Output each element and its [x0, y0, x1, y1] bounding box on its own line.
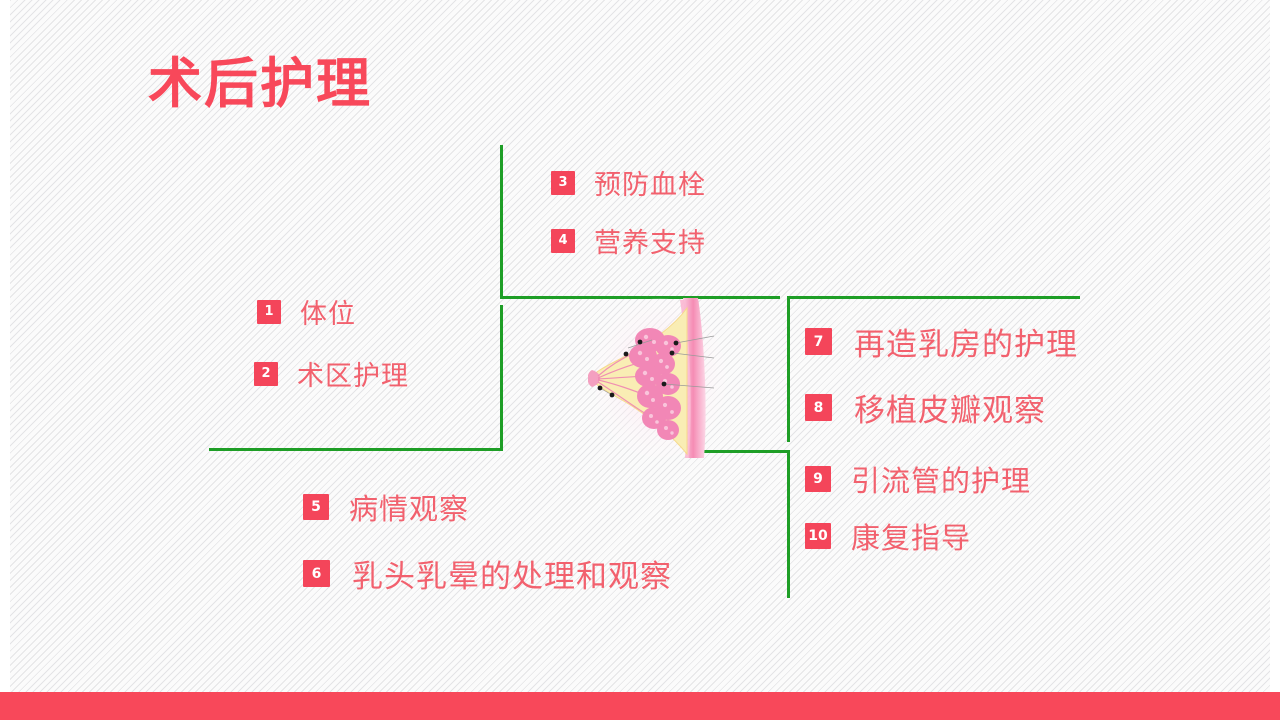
list-item-5[interactable]: 5 病情观察	[303, 486, 469, 528]
item-number-badge: 4	[551, 229, 575, 253]
list-item-7[interactable]: 7 再造乳房的护理	[805, 319, 1078, 364]
connector-line-right-horizontal	[787, 296, 1080, 299]
item-number-badge: 7	[805, 328, 832, 355]
list-item-6[interactable]: 6 乳头乳晕的处理和观察	[303, 551, 672, 596]
bottom-accent-bar	[0, 692, 1280, 720]
item-label: 康复指导	[851, 515, 971, 557]
connector-line-left-horizontal	[209, 448, 503, 451]
list-item-10[interactable]: 10 康复指导	[805, 515, 971, 557]
item-number-badge: 1	[257, 300, 281, 324]
item-label: 体位	[300, 292, 356, 331]
item-label: 预防血栓	[594, 163, 706, 202]
breast-anatomy-illustration	[588, 296, 728, 461]
slide-canvas: 术后护理	[0, 0, 1280, 720]
item-label: 再造乳房的护理	[854, 319, 1078, 364]
list-item-4[interactable]: 4 营养支持	[551, 221, 706, 260]
list-item-9[interactable]: 9 引流管的护理	[805, 458, 1031, 500]
item-number-badge: 5	[303, 494, 329, 520]
item-number-badge: 3	[551, 171, 575, 195]
item-label: 乳头乳晕的处理和观察	[352, 551, 672, 596]
list-item-8[interactable]: 8 移植皮瓣观察	[805, 385, 1046, 430]
item-label: 引流管的护理	[851, 458, 1031, 500]
item-number-badge: 8	[805, 394, 832, 421]
list-item-2[interactable]: 2 术区护理	[254, 354, 409, 393]
connector-line-bottom-vertical	[787, 450, 790, 598]
item-number-badge: 10	[805, 523, 831, 549]
item-label: 术区护理	[297, 354, 409, 393]
list-item-1[interactable]: 1 体位	[257, 292, 356, 331]
list-item-3[interactable]: 3 预防血栓	[551, 163, 706, 202]
item-label: 病情观察	[349, 486, 469, 528]
item-number-badge: 9	[805, 466, 831, 492]
item-label: 移植皮瓣观察	[854, 385, 1046, 430]
page-title: 术后护理	[148, 54, 372, 113]
connector-line-right-vertical	[787, 296, 790, 442]
item-number-badge: 2	[254, 362, 278, 386]
item-number-badge: 6	[303, 560, 330, 587]
connector-line-left-vertical	[500, 305, 503, 450]
connector-line-top-vertical	[500, 145, 503, 298]
item-label: 营养支持	[594, 221, 706, 260]
